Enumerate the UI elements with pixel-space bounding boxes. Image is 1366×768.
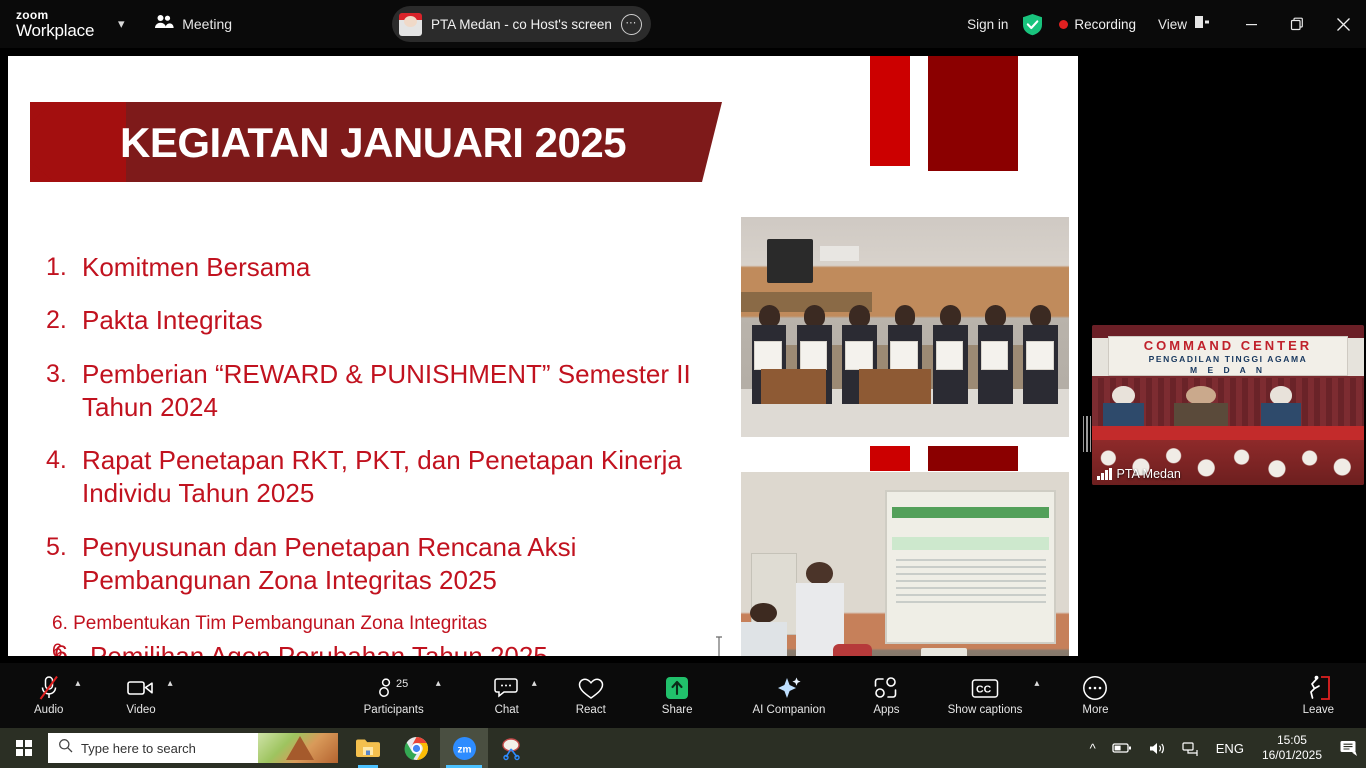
participant-name: PTA Medan (1117, 467, 1181, 481)
camera-icon (127, 675, 155, 701)
clock-date: 16/01/2025 (1262, 748, 1322, 763)
windows-taskbar: Type here to search (0, 728, 1366, 768)
thumbnail-person-left (1103, 386, 1144, 431)
photo1-table-left (761, 369, 827, 404)
network-icon[interactable] (1174, 741, 1208, 756)
captions-options-chevron-icon[interactable]: ▴ (1034, 678, 1039, 689)
encryption-shield-icon[interactable] (1022, 13, 1043, 36)
action-center-icon[interactable] (1332, 728, 1366, 768)
google-chrome-icon[interactable] (392, 728, 440, 768)
file-explorer-icon[interactable] (344, 728, 392, 768)
overlapping-text-block: 6. Pembentukan Tim Pembangunan Zona Inte… (46, 613, 746, 656)
chat-bubble-icon (494, 675, 520, 701)
meeting-toolbar: Audio ▴ Video ▴ 25 Participants (0, 663, 1366, 728)
thumbnail-person-center (1174, 386, 1228, 431)
participants-icon: 25 (377, 675, 411, 701)
window-controls (1228, 0, 1366, 48)
more-ellipsis-icon (1082, 675, 1108, 701)
restore-icon[interactable] (1274, 0, 1320, 48)
command-center-sign: COMMAND CENTER PENGADILAN TINGGI AGAMA M… (1108, 336, 1347, 376)
video-options-chevron-icon[interactable]: ▴ (168, 678, 173, 689)
ai-sparkle-icon (776, 675, 802, 701)
signal-strength-icon (1097, 468, 1112, 480)
svg-text:CC: CC (976, 683, 992, 695)
search-highlight-thumbnail (258, 733, 338, 763)
recording-dot-icon (1059, 20, 1068, 29)
battery-icon[interactable] (1104, 741, 1140, 755)
slide-photo-presentation: Asar 15:57:42 Masih 00:52:30 (740, 471, 1070, 656)
show-hidden-icons-icon[interactable]: ^ (1082, 741, 1104, 756)
list-item-number: 6. (54, 641, 90, 656)
taskbar-apps: zm (344, 728, 536, 768)
view-button[interactable]: View (1158, 15, 1210, 34)
search-icon (58, 738, 73, 758)
clock-time: 15:05 (1277, 733, 1307, 748)
photo2-projector (921, 648, 967, 656)
list-item: 4. Rapat Penetapan RKT, PKT, dan Penetap… (46, 444, 746, 511)
audio-label: Audio (34, 704, 63, 716)
sign-in-button[interactable]: Sign in (967, 17, 1008, 32)
share-label: Share (662, 704, 693, 716)
leave-label: Leave (1303, 704, 1334, 716)
react-button[interactable]: React (572, 668, 610, 724)
list-item: 1. Komitmen Bersama (46, 251, 746, 284)
close-icon[interactable] (1320, 0, 1366, 48)
list-item-number: 3. (46, 358, 82, 425)
chat-label: Chat (495, 704, 519, 716)
chat-options-chevron-icon[interactable]: ▴ (532, 678, 537, 689)
presenter-avatar (399, 13, 422, 36)
participants-options-chevron-icon[interactable]: ▴ (436, 678, 441, 689)
slide-title: KEGIATAN JANUARI 2025 (120, 114, 720, 172)
list-item-number: 5. (46, 531, 82, 598)
ai-companion-label: AI Companion (752, 704, 825, 716)
list-item-text: Penyusunan dan Penetapan Rencana Aksi Pe… (82, 531, 746, 598)
apps-icon (873, 675, 899, 701)
share-screen-button[interactable]: Share (658, 668, 697, 724)
photo1-person (974, 305, 1017, 404)
show-captions-label: Show captions (948, 704, 1023, 716)
photo2-seated-person (741, 603, 787, 656)
people-group-icon (154, 14, 174, 35)
audio-button[interactable]: Audio ▴ (30, 668, 67, 724)
list-item-text: Pemilihan Agen Perubahan Tahun 2025 (90, 641, 548, 656)
taskbar-clock[interactable]: 15:05 16/01/2025 (1252, 733, 1332, 763)
video-label: Video (126, 704, 155, 716)
logo-line-1: zoom (16, 9, 94, 21)
search-placeholder: Type here to search (81, 741, 196, 756)
apps-label: Apps (873, 704, 899, 716)
minimize-icon[interactable] (1228, 0, 1274, 48)
decor-bar-bright-top (870, 56, 910, 166)
photo2-projection-screen (885, 490, 1056, 644)
chat-button[interactable]: Chat ▴ (490, 668, 524, 724)
sign-line-2: PENGADILAN TINGGI AGAMA (1149, 354, 1308, 364)
svg-text:25: 25 (396, 678, 408, 690)
shared-screen-pill[interactable]: PTA Medan - co Host's screen ⋯ (392, 6, 651, 42)
windows-start-icon[interactable] (0, 728, 48, 768)
recording-label: Recording (1074, 17, 1136, 32)
more-label: More (1082, 704, 1108, 716)
participants-label: Participants (364, 704, 424, 716)
leave-meeting-icon (1304, 675, 1332, 701)
list-item-number: 1. (46, 251, 82, 284)
ai-companion-button[interactable]: AI Companion (748, 668, 829, 724)
text-cursor-icon (714, 636, 724, 656)
video-button[interactable]: Video ▴ (122, 668, 159, 724)
shared-screen-label: PTA Medan - co Host's screen (431, 17, 612, 32)
leave-button[interactable]: Leave (1299, 668, 1338, 724)
list-item-text: Pemberian “REWARD & PUNISHMENT” Semester… (82, 358, 746, 425)
search-input[interactable]: Type here to search (48, 733, 338, 763)
list-item: 2. Pakta Integritas (46, 304, 746, 337)
panel-resize-handle[interactable] (1082, 413, 1092, 455)
list-item-text: Rapat Penetapan RKT, PKT, dan Penetapan … (82, 444, 746, 511)
list-item-text: Komitmen Bersama (82, 251, 310, 284)
system-tray: ^ ENG (1082, 728, 1366, 768)
photo1-person (1019, 305, 1062, 404)
photo1-air-conditioner (820, 246, 859, 261)
thumbnail-person-right (1261, 386, 1302, 431)
participant-video-thumbnail[interactable]: COMMAND CENTER PENGADILAN TINGGI AGAMA M… (1092, 325, 1364, 485)
list-item-6-small: 6. Pembentukan Tim Pembangunan Zona Inte… (52, 613, 487, 635)
show-captions-button[interactable]: CC Show captions ▴ (944, 668, 1027, 724)
more-options-icon[interactable]: ⋯ (621, 14, 642, 35)
volume-icon[interactable] (1140, 741, 1174, 756)
meeting-tab-label: Meeting (182, 16, 232, 32)
slide-banner-arrow-accent (30, 102, 126, 182)
list-item-7: 6. Pemilihan Agen Perubahan Tahun 2025 (54, 641, 548, 656)
shared-slide[interactable]: KEGIATAN JANUARI 2025 1. Komitmen Bersam… (8, 56, 1078, 656)
photo1-scene (741, 217, 1069, 437)
react-label: React (576, 704, 606, 716)
photo1-speaker-box (767, 239, 813, 283)
thumbnail-name-bar: PTA Medan (1097, 467, 1181, 481)
logo-line-2: Workplace (16, 22, 94, 39)
audio-options-chevron-icon[interactable]: ▴ (75, 678, 80, 689)
photo2-flower-vase (833, 644, 872, 656)
heart-icon (578, 675, 604, 701)
apps-button[interactable]: Apps (869, 668, 903, 724)
more-button[interactable]: More (1078, 668, 1112, 724)
recording-indicator[interactable]: Recording (1059, 17, 1136, 32)
snipping-tool-icon[interactable] (488, 728, 536, 768)
titlebar-right-group: Sign in Recording View (967, 0, 1366, 48)
decor-bar-dark-top (928, 56, 1018, 171)
photo1-person (929, 305, 972, 404)
slide-photo-group-ceremony (740, 216, 1070, 438)
photo2-presenter (793, 562, 845, 656)
zoom-app-icon[interactable]: zm (440, 728, 488, 768)
list-item: 3. Pemberian “REWARD & PUNISHMENT” Semes… (46, 358, 746, 425)
photo1-table-right (859, 369, 931, 404)
photo2-scene: Asar 15:57:42 Masih 00:52:30 (741, 472, 1069, 656)
list-item-number: 4. (46, 444, 82, 511)
title-bar: zoom Workplace ▾ Meeting PTA Medan - co … (0, 0, 1366, 48)
zoom-meeting-window: zoom Workplace ▾ Meeting PTA Medan - co … (0, 0, 1366, 768)
zoom-workplace-logo: zoom Workplace (16, 9, 94, 39)
list-item: 5. Penyusunan dan Penetapan Rencana Aksi… (46, 531, 746, 598)
language-indicator[interactable]: ENG (1208, 741, 1252, 756)
meeting-tab[interactable]: Meeting (154, 14, 232, 35)
list-item-text: Pakta Integritas (82, 304, 263, 337)
view-layout-icon (1194, 15, 1210, 34)
sign-line-1: COMMAND CENTER (1144, 338, 1312, 353)
view-label: View (1158, 17, 1187, 32)
share-screen-icon (664, 675, 690, 701)
svg-text:zm: zm (457, 744, 471, 755)
list-item-number: 2. (46, 304, 82, 337)
closed-captions-icon: CC (971, 675, 999, 701)
participants-button[interactable]: 25 Participants ▴ (360, 668, 428, 724)
slide-bullet-list: 1. Komitmen Bersama 2. Pakta Integritas … (46, 251, 746, 656)
chevron-down-icon[interactable]: ▾ (112, 16, 130, 32)
meeting-stage: KEGIATAN JANUARI 2025 1. Komitmen Bersam… (0, 48, 1366, 663)
microphone-muted-icon (37, 675, 61, 701)
sign-line-3: M E D A N (1190, 365, 1266, 375)
